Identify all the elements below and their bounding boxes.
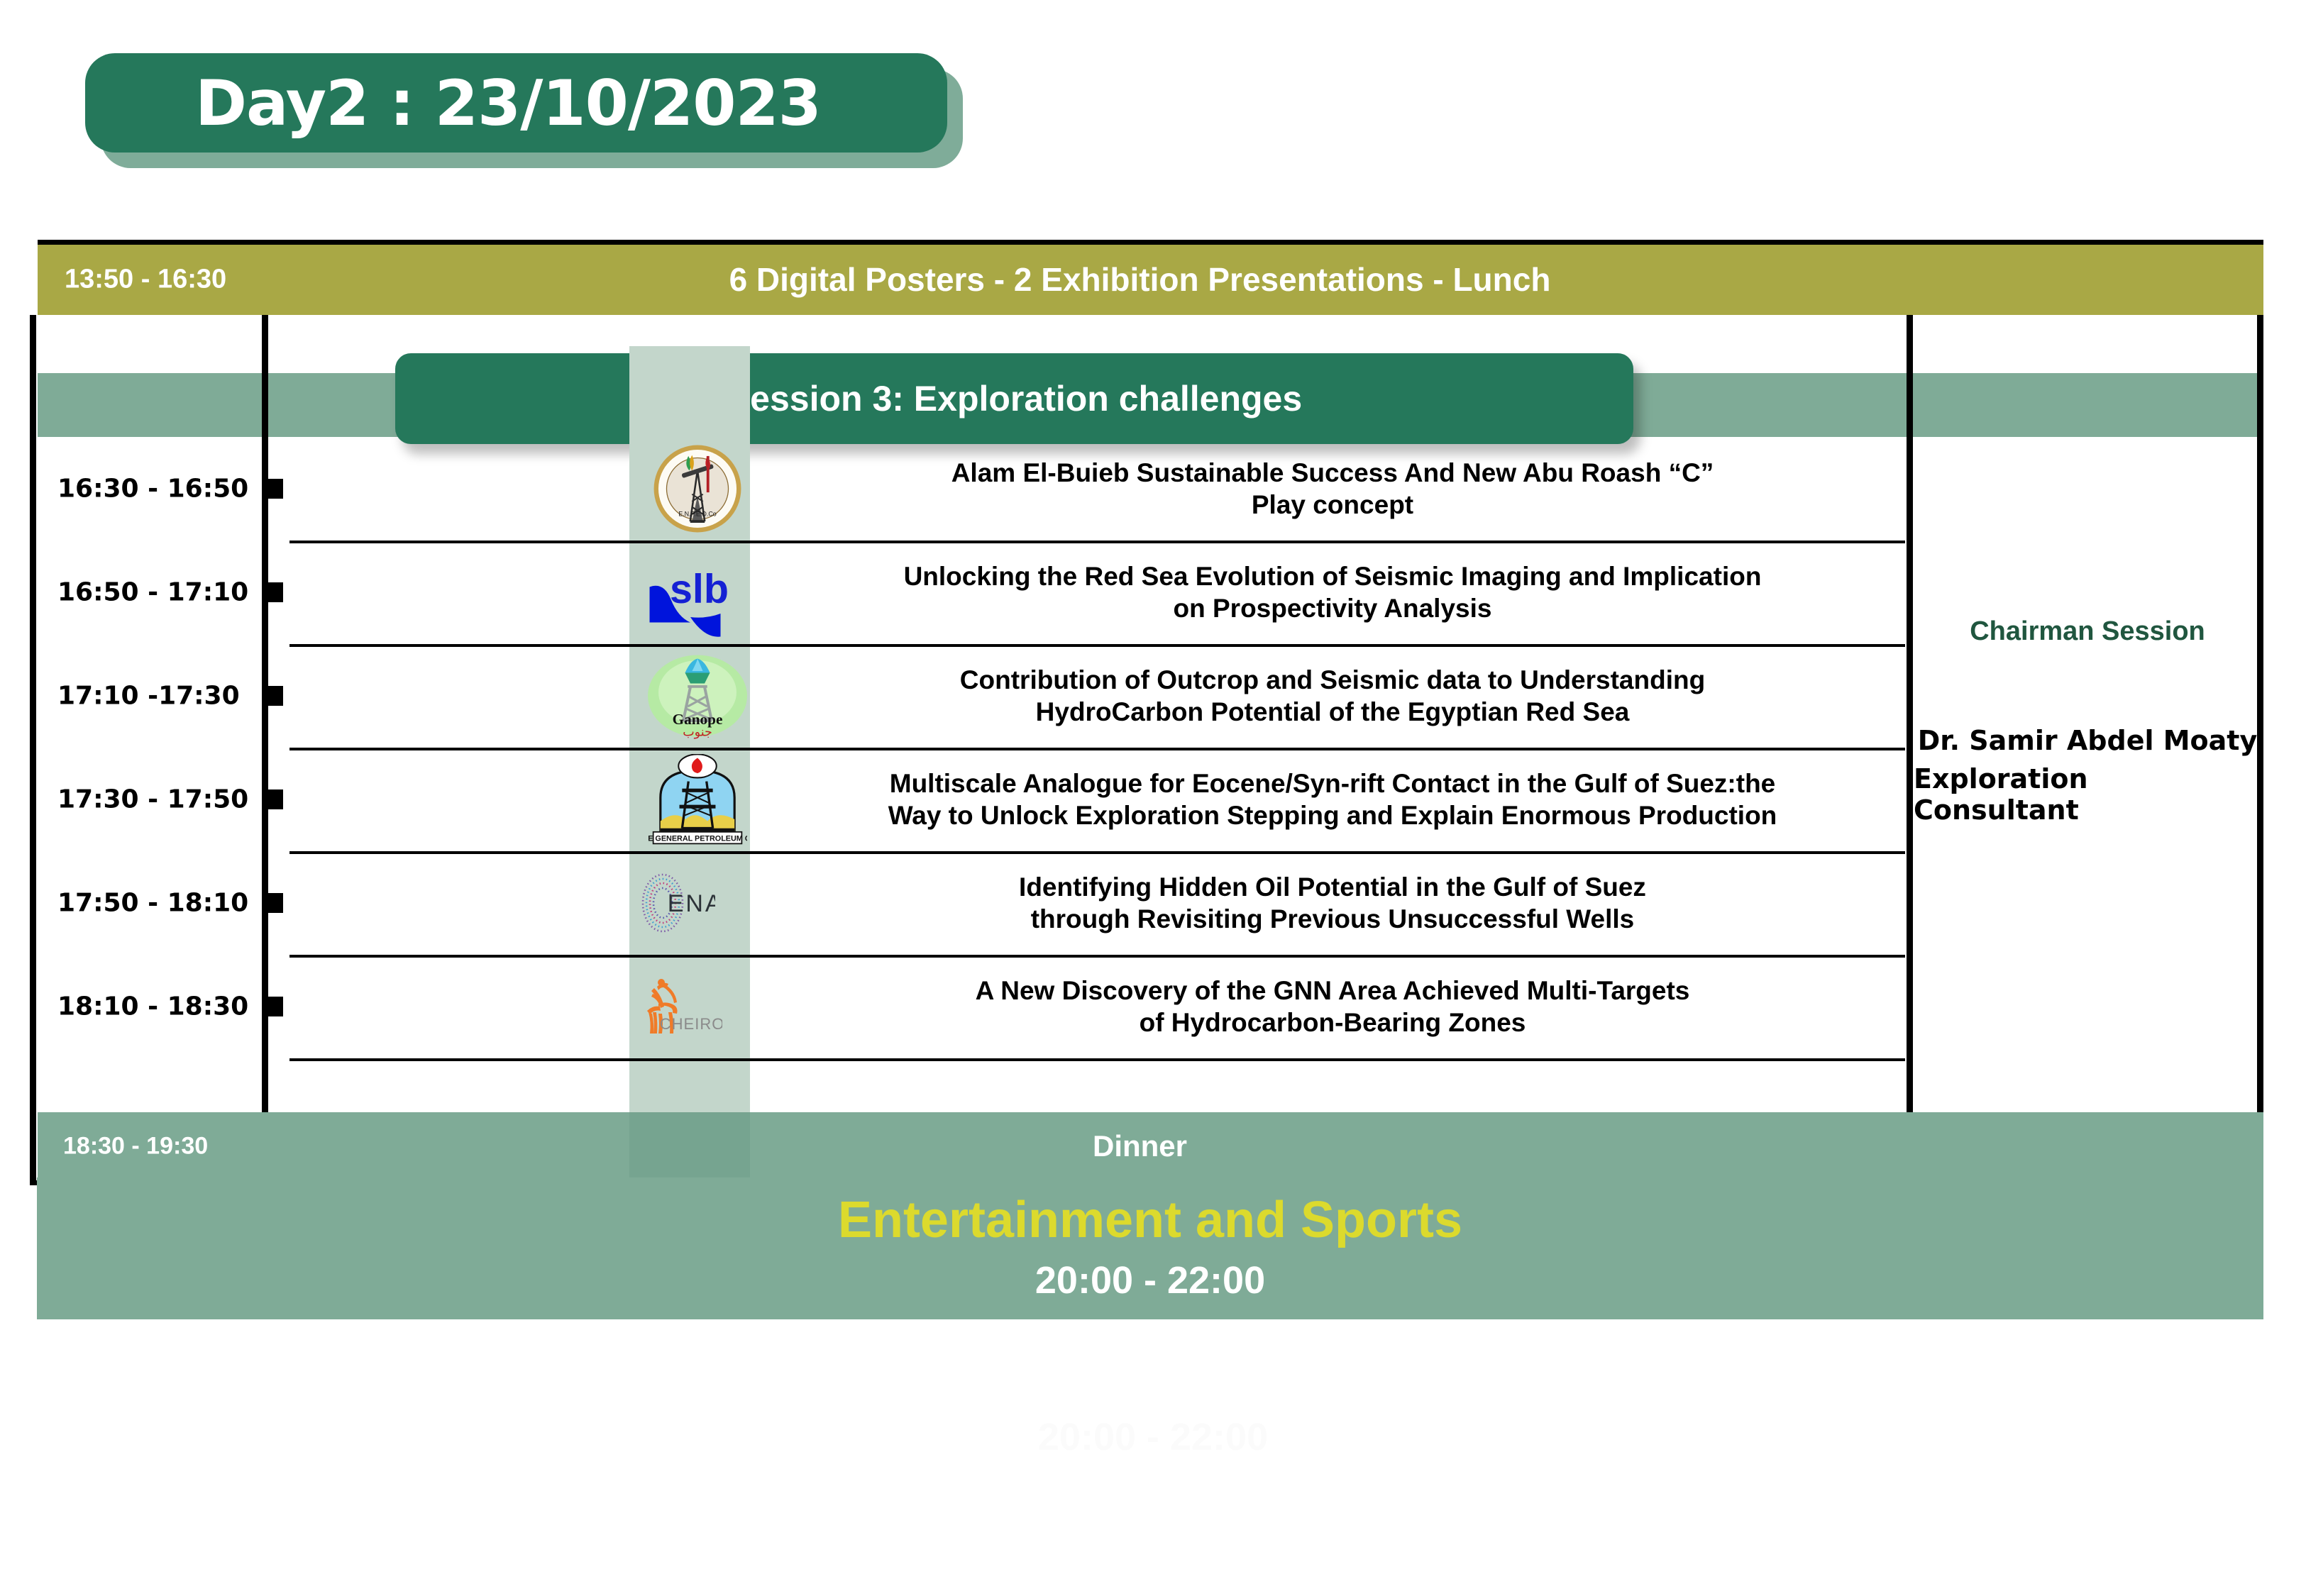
- session-header: Session 3: Exploration challenges: [395, 353, 1633, 444]
- lunch-row: 13:50 - 16:30 6 Digital Posters - 2 Exhi…: [38, 244, 2263, 315]
- row-title: Multiscale Analogue for Eocene/Syn-rift …: [772, 767, 1893, 831]
- row-title-line2: Way to Unlock Exploration Stepping and E…: [888, 801, 1777, 830]
- ghost-time-text: 20:00 - 22:00: [0, 1415, 2306, 1459]
- row-tick-marker: [262, 686, 283, 706]
- svg-text:E.N.P.E.D.Co: E.N.P.E.D.Co: [678, 510, 717, 517]
- chairman-role: Exploration Consultant: [1914, 763, 2261, 826]
- row-tick-marker: [262, 479, 283, 499]
- row-title: Unlocking the Red Sea Evolution of Seism…: [772, 560, 1893, 624]
- row-title-line1: Unlocking the Red Sea Evolution of Seism…: [904, 562, 1762, 591]
- row-title-line2: HydroCarbon Potential of the Egyptian Re…: [1036, 697, 1630, 726]
- grid-left-border: [30, 315, 36, 1180]
- ganope-logo: Ganope جنوب: [637, 644, 758, 748]
- row-time: 17:50 - 18:10: [57, 889, 248, 918]
- dinner-label: Dinner: [38, 1129, 2263, 1163]
- row-tick-marker: [262, 893, 283, 913]
- row-title-line2: Play concept: [1252, 490, 1413, 519]
- row-title-line1: Alam El-Buieb Sustainable Success And Ne…: [951, 458, 1714, 487]
- row-tick-marker: [262, 997, 283, 1016]
- session-title: Session 3: Exploration challenges: [727, 378, 1302, 419]
- row-tick-marker: [262, 582, 283, 602]
- general-petroleum-logo: THE GENERAL PETROLEUM Co.: [637, 748, 758, 851]
- slb-logo: slb: [637, 541, 758, 644]
- svg-text:جنوب: جنوب: [683, 725, 712, 739]
- day-title-plate: Day2 : 23/10/2023: [85, 53, 947, 153]
- row-title-line2: through Revisiting Previous Unsuccessful…: [1031, 904, 1635, 933]
- row-time: 16:50 - 17:10: [57, 578, 248, 607]
- enpedco-seal-logo: E.N.P.E.D.Co: [637, 437, 758, 541]
- row-title-line2: of Hydrocarbon-Bearing Zones: [1140, 1008, 1526, 1037]
- agenda-table: 13:50 - 16:30 6 Digital Posters - 2 Exhi…: [30, 240, 2263, 1319]
- chairman-column: Chairman Session Dr. Samir Abdel Moaty E…: [1914, 329, 2261, 1112]
- svg-text:ENAP: ENAP: [668, 890, 715, 917]
- day-title-text: Day2 : 23/10/2023: [85, 67, 821, 140]
- entertainment-title: Entertainment and Sports: [838, 1195, 1462, 1246]
- chairman-heading: Chairman Session: [1970, 616, 2205, 647]
- entertainment-footer: Entertainment and Sports 20:00 - 22:00: [37, 1177, 2263, 1319]
- entertainment-time: 20:00 - 22:00: [1035, 1258, 1265, 1302]
- chairman-name: Dr. Samir Abdel Moaty: [1918, 725, 2257, 756]
- row-title: Alam El-Buieb Sustainable Success And Ne…: [772, 457, 1893, 521]
- row-title-line1: A New Discovery of the GNN Area Achieved…: [976, 976, 1690, 1005]
- svg-text:THE GENERAL PETROLEUM Co.: THE GENERAL PETROLEUM Co.: [648, 835, 747, 843]
- lunch-label: 6 Digital Posters - 2 Exhibition Present…: [38, 260, 2263, 299]
- row-title: Contribution of Outcrop and Seismic data…: [772, 664, 1893, 728]
- dinner-row: 18:30 - 19:30 Dinner: [38, 1112, 2263, 1180]
- row-time: 17:10 -17:30: [57, 682, 240, 711]
- row-separator: [289, 1058, 1905, 1061]
- row-title-line1: Multiscale Analogue for Eocene/Syn-rift …: [890, 769, 1776, 798]
- day-title-banner: Day2 : 23/10/2023: [85, 53, 947, 153]
- svg-text:CHEIRON: CHEIRON: [660, 1015, 722, 1033]
- row-title: A New Discovery of the GNN Area Achieved…: [772, 975, 1893, 1038]
- row-time: 18:10 - 18:30: [57, 992, 248, 1021]
- row-tick-marker: [262, 789, 283, 809]
- row-title: Identifying Hidden Oil Potential in the …: [772, 871, 1893, 935]
- row-title-line1: Contribution of Outcrop and Seismic data…: [960, 665, 1705, 694]
- row-time: 17:30 - 17:50: [57, 785, 248, 814]
- svg-text:slb: slb: [670, 567, 729, 612]
- grid-top-border: [38, 240, 2263, 245]
- row-title-line2: on Prospectivity Analysis: [1174, 594, 1492, 623]
- row-time: 16:30 - 16:50: [57, 475, 248, 504]
- row-title-line1: Identifying Hidden Oil Potential in the …: [1019, 872, 1646, 902]
